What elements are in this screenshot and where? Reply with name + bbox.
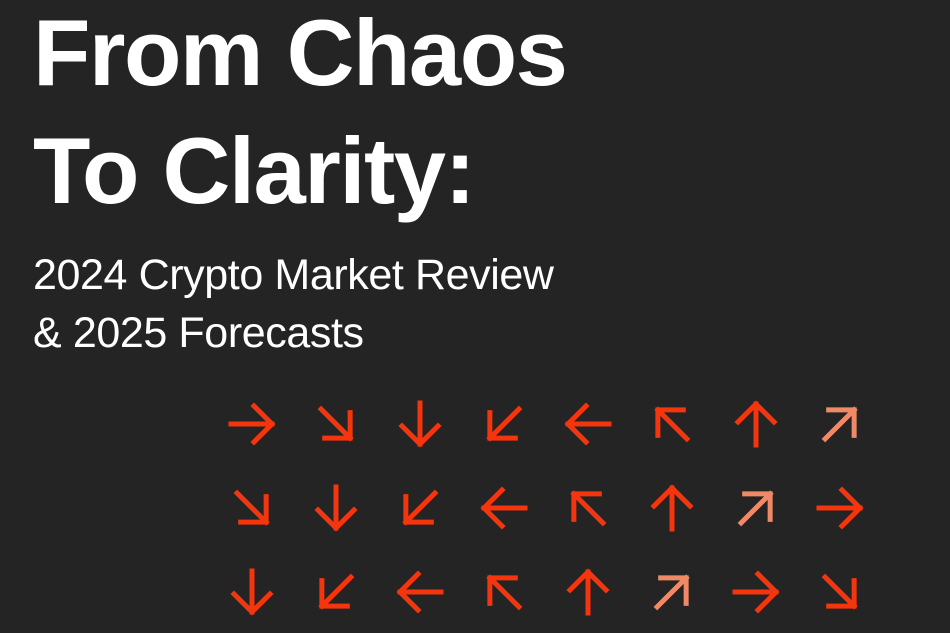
arrow-icon-down-right [312,400,360,448]
page-title: From Chaos To Clarity: [33,0,793,230]
arrow-icon-right [228,400,276,448]
arrow-icon-up-left [564,484,612,532]
arrow-icon-right [816,484,864,532]
arrow-icon-down-right [228,484,276,532]
subtitle-line-2: & 2025 Forecasts [33,304,733,362]
arrow-row [228,568,950,633]
arrow-grid [228,400,950,633]
arrow-icon-up [732,400,780,448]
arrow-icon-up [648,484,696,532]
subtitle-line-1: 2024 Crypto Market Review [33,246,733,304]
headline-line-2: To Clarity: [33,112,793,230]
arrow-icon-up-right [648,568,696,616]
page-subtitle: 2024 Crypto Market Review & 2025 Forecas… [33,246,733,362]
arrow-icon-left [480,484,528,532]
headline-line-1: From Chaos [33,0,793,112]
arrow-icon-down [312,484,360,532]
arrow-icon-up-right [816,400,864,448]
arrow-icon-right [732,568,780,616]
arrow-icon-up-right [732,484,780,532]
arrow-icon-down [228,568,276,616]
arrow-icon-up-left [480,568,528,616]
arrow-icon-down-right [816,568,864,616]
arrow-row [228,400,950,484]
arrow-icon-up [564,568,612,616]
arrow-row [228,484,950,568]
arrow-icon-left [396,568,444,616]
arrow-icon-down-left [396,484,444,532]
arrow-icon-down-left [312,568,360,616]
arrow-icon-up-left [648,400,696,448]
arrow-icon-left [564,400,612,448]
arrow-icon-down-left [480,400,528,448]
arrow-icon-down [396,400,444,448]
poster-canvas: From Chaos To Clarity: 2024 Crypto Marke… [0,0,950,633]
